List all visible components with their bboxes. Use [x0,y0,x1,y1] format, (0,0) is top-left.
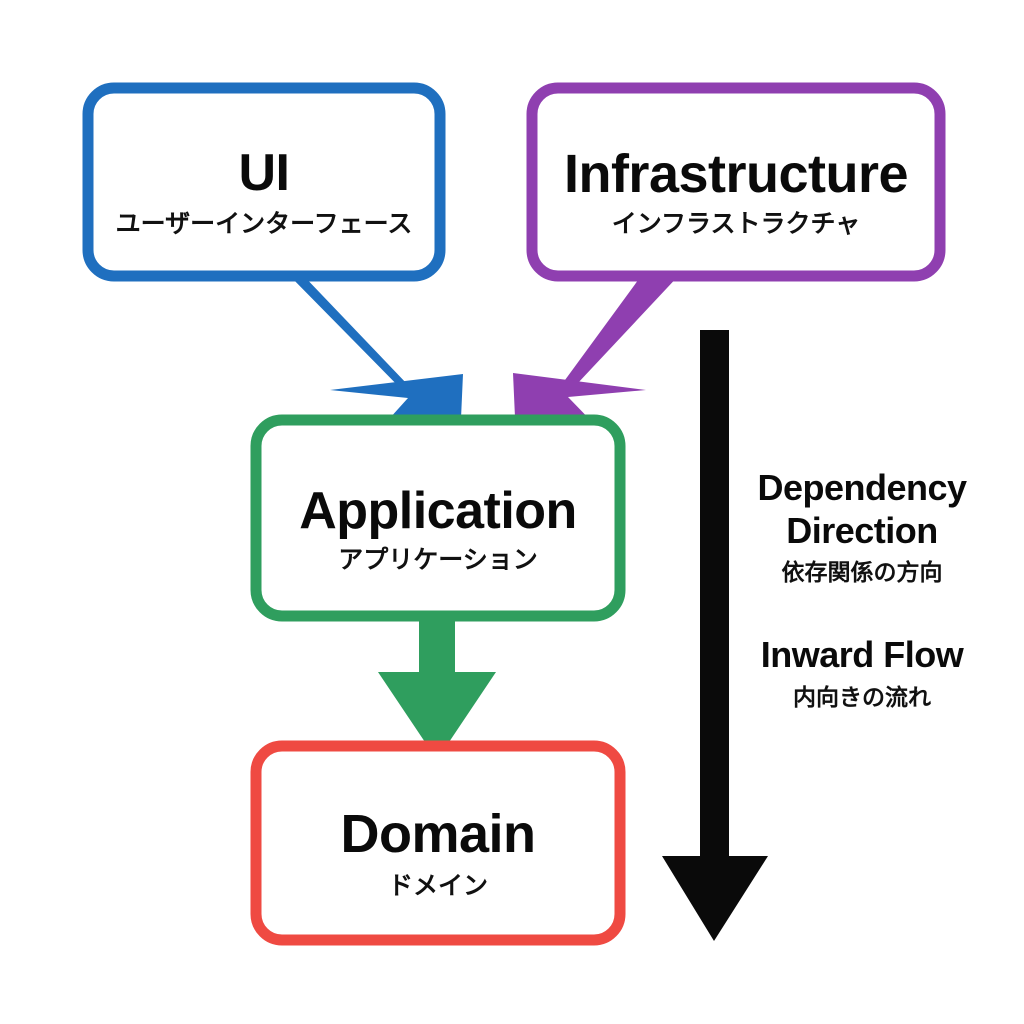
annotation-inward-flow: Inward Flow 内向きの流れ [761,634,965,711]
arrow-dependency-direction [662,330,768,941]
layer-box-ui[interactable]: UI ユーザーインターフェース [88,88,440,276]
layer-box-domain[interactable]: Domain ドメイン [256,746,620,940]
layer-box-application[interactable]: Application アプリケーション [256,420,620,616]
arrow-application-to-domain [378,608,496,760]
annotation-inward-flow-ja: 内向きの流れ [793,684,931,711]
layer-box-infrastructure[interactable]: Infrastructure インフラストラクチャ [532,88,940,276]
layer-box-ui-title: UI [239,144,290,202]
layer-box-infrastructure-title: Infrastructure [564,144,908,204]
annotation-dependency-direction-ja: 依存関係の方向 [782,559,943,586]
arrow-dependency-direction-shape [662,330,768,941]
annotation-inward-flow-line1: Inward Flow [761,634,965,675]
annotation-dependency-direction: Dependency Direction 依存関係の方向 [757,467,967,586]
architecture-diagram: UI ユーザーインターフェース Infrastructure インフラストラクチ… [0,0,1024,1024]
layer-box-infrastructure-subtitle: インフラストラクチャ [612,209,861,238]
layer-box-domain-title: Domain [340,804,535,864]
layer-box-application-subtitle: アプリケーション [338,545,538,574]
layer-box-ui-subtitle: ユーザーインターフェース [116,209,413,238]
layer-box-application-title: Application [299,482,577,540]
layer-box-domain-subtitle: ドメイン [388,871,488,900]
annotation-dependency-direction-line1: Dependency [757,467,967,508]
arrow-application-to-domain-shape [378,608,496,760]
diagram-canvas: UI ユーザーインターフェース Infrastructure インフラストラクチ… [0,0,1024,1024]
annotation-dependency-direction-line2: Direction [786,510,938,551]
